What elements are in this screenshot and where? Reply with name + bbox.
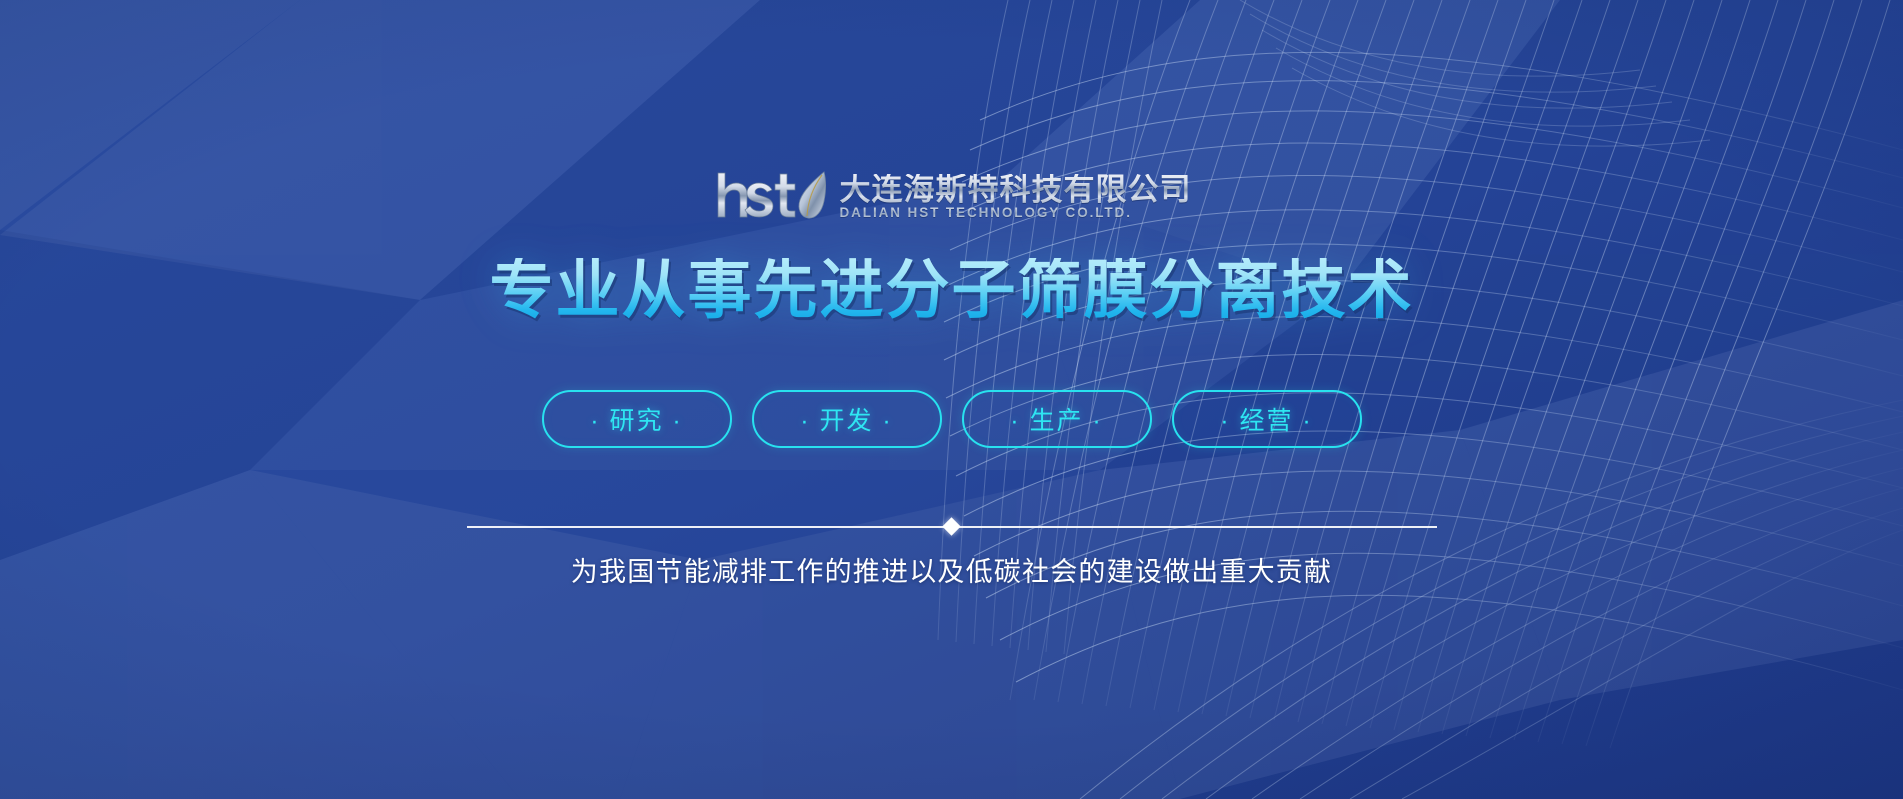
logo-company-names: 大连海斯特科技有限公司 DALIAN HST TECHNOLOGY CO.LTD…	[840, 174, 1192, 222]
company-name-en: DALIAN HST TECHNOLOGY CO.LTD.	[840, 206, 1192, 220]
hst-wordmark-with-leaf-icon	[712, 169, 830, 221]
tagline: 为我国节能减排工作的推进以及低碳社会的建设做出重大贡献	[571, 556, 1332, 588]
pill-research[interactable]: · 研究 ·	[542, 390, 732, 448]
divider	[467, 515, 1437, 537]
hero-banner: 大连海斯特科技有限公司 DALIAN HST TECHNOLOGY CO.LTD…	[0, 0, 1903, 799]
page-title: 专业从事先进分子筛膜分离技术	[490, 258, 1414, 322]
pill-development[interactable]: · 开发 ·	[752, 390, 942, 448]
pill-operation[interactable]: · 经营 ·	[1172, 390, 1362, 448]
company-name-cn: 大连海斯特科技有限公司	[840, 174, 1192, 205]
company-logo: 大连海斯特科技有限公司 DALIAN HST TECHNOLOGY CO.LTD…	[712, 169, 1192, 221]
keyword-pill-group: · 研究 · · 开发 · · 生产 · · 经营 ·	[542, 390, 1362, 448]
pill-production[interactable]: · 生产 ·	[962, 390, 1152, 448]
banner-content: 大连海斯特科技有限公司 DALIAN HST TECHNOLOGY CO.LTD…	[0, 0, 1903, 799]
diamond-icon	[942, 517, 960, 535]
